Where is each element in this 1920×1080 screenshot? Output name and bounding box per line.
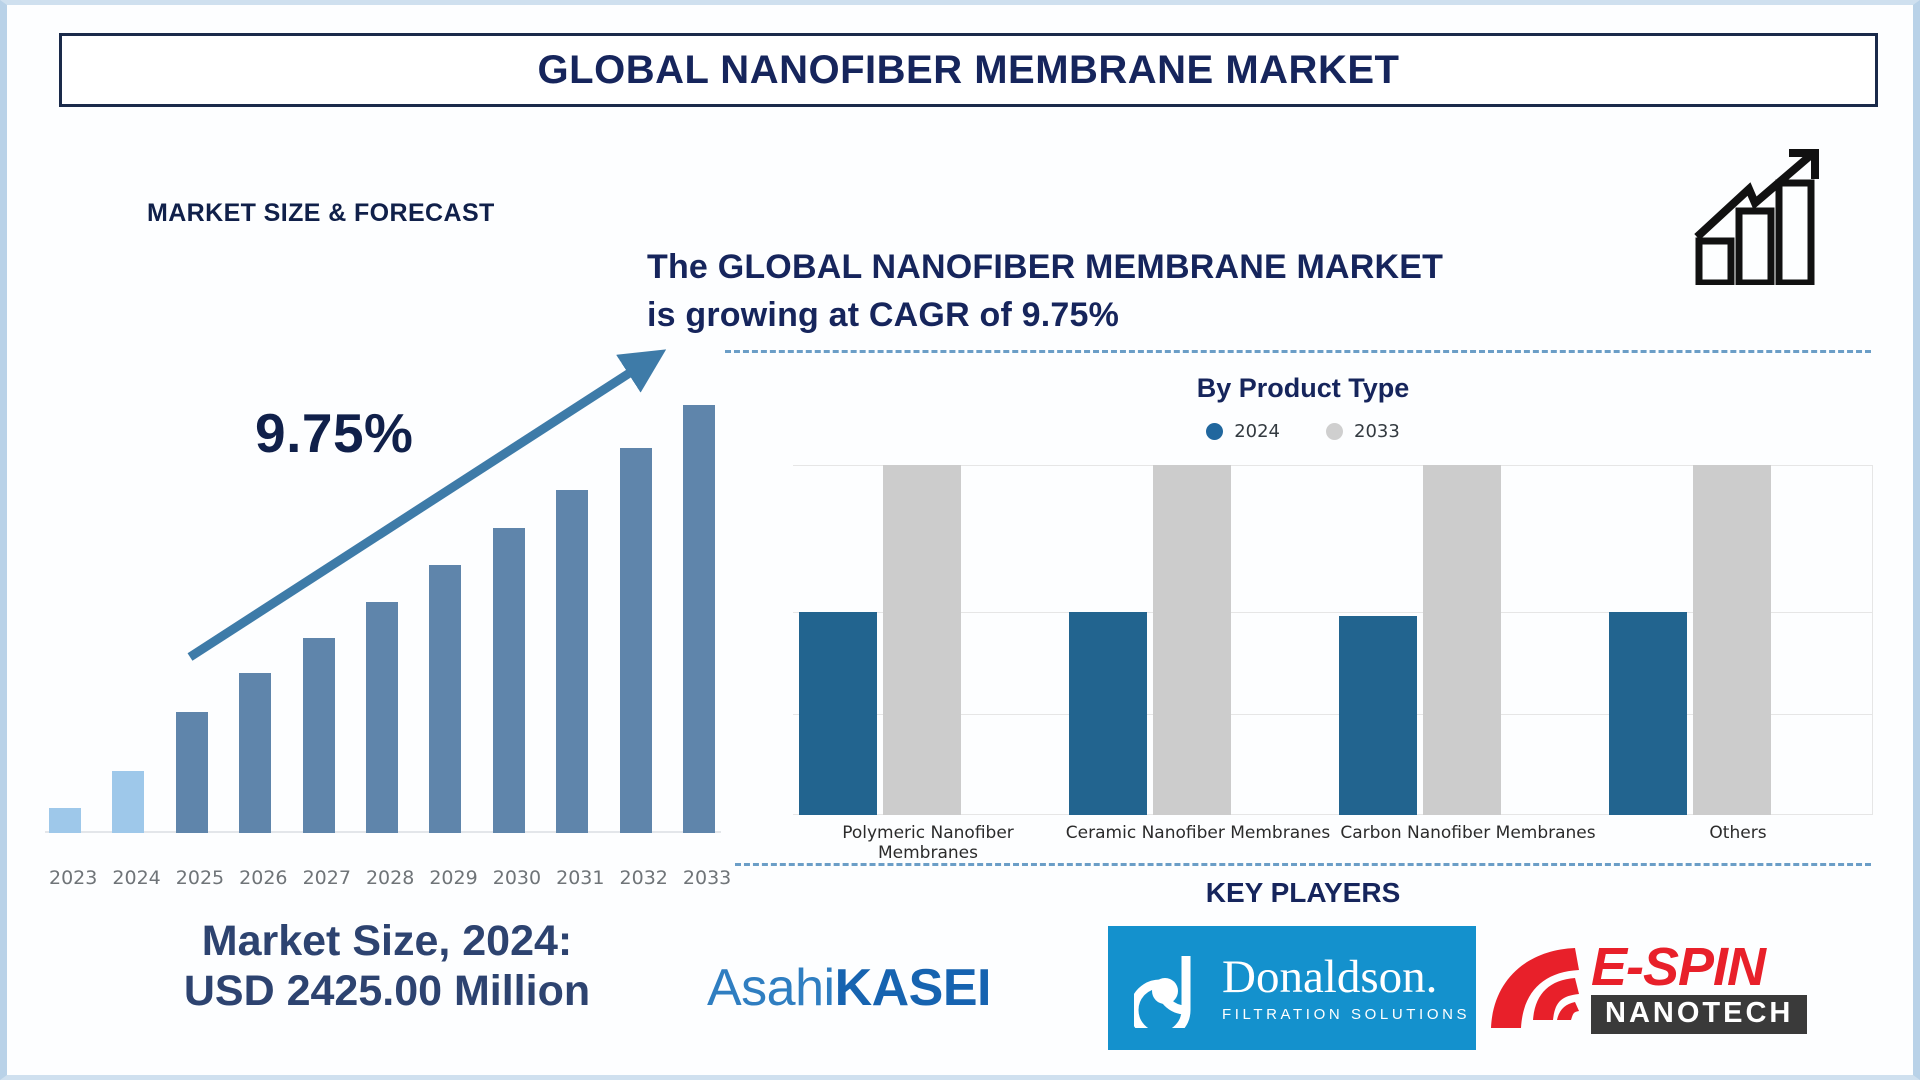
by-product-type-title: By Product Type (735, 373, 1871, 404)
market-size-line-1: Market Size, 2024: (107, 917, 667, 967)
growth-headline: The GLOBAL NANOFIBER MEMBRANE MARKET is … (647, 243, 1443, 340)
forecast-bar-2024 (112, 771, 144, 833)
infographic-canvas: GLOBAL NANOFIBER MEMBRANE MARKET MARKET … (7, 5, 1913, 1075)
market-size-forecast-label: MARKET SIZE & FORECAST (147, 199, 495, 228)
forecast-year-label: 2027 (303, 867, 335, 889)
forecast-year-label: 2026 (239, 867, 271, 889)
divider-bottom (735, 863, 1871, 866)
by-product-type-chart (793, 465, 1873, 815)
product-type-category-axis: Polymeric Nanofiber MembranesCeramic Nan… (793, 823, 1873, 863)
product-type-bar-groups (793, 465, 1873, 815)
espin-nanotech-logo[interactable]: E-SPIN NANOTECH (1487, 924, 1887, 1052)
legend-item-2033[interactable]: 2033 (1326, 421, 1400, 442)
forecast-bar-2025 (176, 712, 208, 833)
donaldson-swirl-icon (1134, 948, 1208, 1028)
forecast-chart-bars (49, 375, 715, 833)
infographic-page: GLOBAL NANOFIBER MEMBRANE MARKET MARKET … (0, 0, 1920, 1080)
forecast-year-label: 2029 (429, 867, 461, 889)
market-size-forecast-chart: 2023202420252026202720282029203020312032… (35, 375, 725, 855)
forecast-bar-2032 (620, 448, 652, 833)
forecast-year-label: 2032 (620, 867, 652, 889)
product-bar-2024 (1069, 612, 1147, 815)
forecast-bar-2023 (49, 808, 81, 833)
product-bar-2033 (883, 465, 961, 815)
forecast-bar-2027 (303, 638, 335, 833)
asahi-kasei-logo-part1: Asahi (707, 959, 835, 1017)
legend-swatch-icon (1206, 423, 1223, 440)
forecast-bar-2028 (366, 602, 398, 833)
forecast-year-label: 2028 (366, 867, 398, 889)
forecast-bar-2029 (429, 565, 461, 833)
forecast-bar-2031 (556, 490, 588, 834)
bar-group (1603, 465, 1873, 815)
donaldson-tagline: FILTRATION SOLUTIONS (1222, 1006, 1470, 1023)
espin-nanotech-box: NANOTECH (1591, 995, 1807, 1034)
forecast-bar-2026 (239, 673, 271, 833)
forecast-year-label: 2025 (176, 867, 208, 889)
forecast-bar-2033 (683, 405, 715, 833)
legend-label: 2033 (1354, 421, 1400, 442)
espin-swirl-icon (1487, 936, 1583, 1040)
donaldson-logo[interactable]: Donaldson. FILTRATION SOLUTIONS (1108, 924, 1476, 1052)
donaldson-wordmark: Donaldson. (1222, 954, 1470, 1001)
bar-group (1333, 465, 1603, 815)
product-category-label: Polymeric Nanofiber Membranes (793, 823, 1063, 863)
bar-group (793, 465, 1063, 815)
legend-swatch-icon (1326, 423, 1343, 440)
market-size-figure: Market Size, 2024: USD 2425.00 Million (107, 917, 667, 1017)
forecast-year-label: 2024 (112, 867, 144, 889)
forecast-year-label: 2033 (683, 867, 715, 889)
product-bar-2033 (1153, 465, 1231, 815)
forecast-year-label: 2023 (49, 867, 81, 889)
product-bar-2024 (1609, 612, 1687, 815)
growth-bar-chart-arrow-icon (1693, 145, 1827, 285)
product-bar-2033 (1693, 465, 1771, 815)
divider-top (725, 350, 1871, 353)
key-players-title: KEY PLAYERS (735, 877, 1871, 909)
forecast-year-label: 2030 (493, 867, 525, 889)
market-size-line-2: USD 2425.00 Million (107, 967, 667, 1017)
page-title-box: GLOBAL NANOFIBER MEMBRANE MARKET (59, 33, 1878, 107)
growth-headline-line-1: The GLOBAL NANOFIBER MEMBRANE MARKET (647, 243, 1443, 291)
key-players-logos: AsahiKASEI Donaldson. FILTRATION SOLUTIO… (707, 923, 1887, 1053)
page-title: GLOBAL NANOFIBER MEMBRANE MARKET (538, 48, 1400, 93)
product-type-chart-legend: 20242033 (735, 421, 1871, 442)
espin-wordmark: E-SPIN (1591, 942, 1765, 994)
product-category-label: Carbon Nanofiber Membranes (1333, 823, 1603, 863)
bar-group (1063, 465, 1333, 815)
legend-label: 2024 (1234, 421, 1280, 442)
forecast-year-label: 2031 (556, 867, 588, 889)
forecast-chart-year-axis: 2023202420252026202720282029203020312032… (49, 867, 715, 889)
espin-nanotech-text: NANOTECH (1605, 997, 1793, 1029)
asahi-kasei-logo[interactable]: AsahiKASEI (707, 924, 1097, 1052)
legend-item-2024[interactable]: 2024 (1206, 421, 1280, 442)
product-bar-2024 (1339, 616, 1417, 816)
forecast-bar-2030 (493, 528, 525, 833)
product-category-label: Others (1603, 823, 1873, 863)
product-bar-2024 (799, 612, 877, 815)
product-category-label: Ceramic Nanofiber Membranes (1063, 823, 1333, 863)
asahi-kasei-logo-part2: KASEI (835, 959, 991, 1017)
growth-headline-line-2: is growing at CAGR of 9.75% (647, 291, 1443, 339)
product-bar-2033 (1423, 465, 1501, 815)
